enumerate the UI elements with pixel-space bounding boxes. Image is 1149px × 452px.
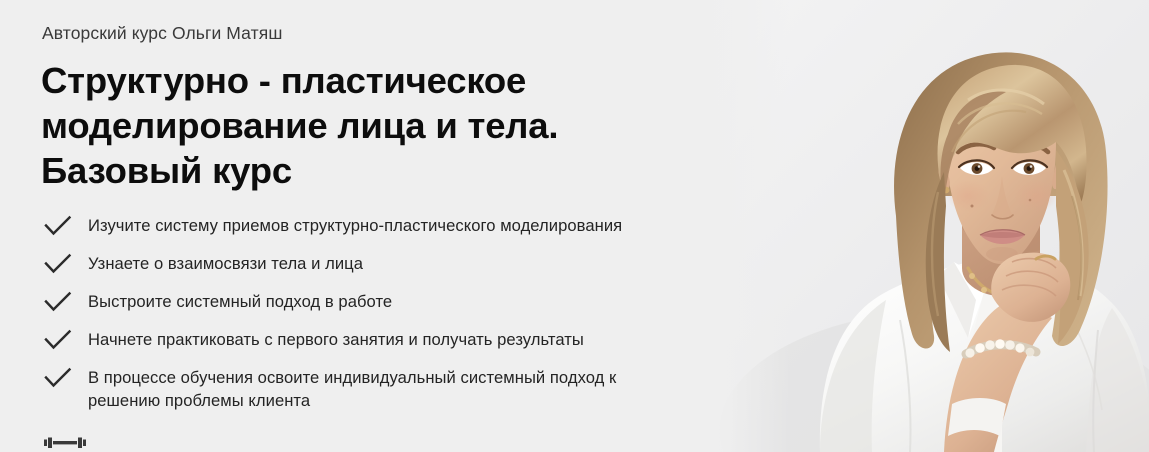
list-item: В процессе обучения освоите индивидуальн…	[40, 366, 688, 412]
list-item: Узнаете о взаимосвязи тела и лица	[40, 252, 688, 276]
benefits-list: Изучите систему приемов структурно-пласт…	[40, 214, 688, 412]
check-icon	[42, 328, 74, 352]
instructor-photo	[700, 0, 1149, 452]
course-author-eyebrow: Авторский курс Ольги Матяш	[42, 22, 282, 44]
list-item-label: Изучите систему приемов структурно-пласт…	[88, 214, 622, 237]
list-item-label: Начнете практиковать с первого занятия и…	[88, 328, 584, 351]
page-title: Структурно - пластическое моделирование …	[41, 58, 661, 193]
list-item-label: Выстроите системный подход в работе	[88, 290, 392, 313]
list-item: Выстроите системный подход в работе	[40, 290, 688, 314]
list-item-label: Узнаете о взаимосвязи тела и лица	[88, 252, 363, 275]
list-item: Начнете практиковать с первого занятия и…	[40, 328, 688, 352]
check-icon	[42, 290, 74, 314]
check-icon	[42, 214, 74, 238]
dumbbell-icon	[42, 436, 88, 452]
list-item-label: В процессе обучения освоите индивидуальн…	[88, 366, 688, 412]
course-hero-banner: Авторский курс Ольги Матяш Структурно - …	[0, 0, 1149, 452]
check-icon	[42, 252, 74, 276]
list-item: Изучите систему приемов структурно-пласт…	[40, 214, 688, 238]
check-icon	[42, 366, 74, 390]
hero-text-column: Авторский курс Ольги Матяш Структурно - …	[0, 0, 700, 452]
